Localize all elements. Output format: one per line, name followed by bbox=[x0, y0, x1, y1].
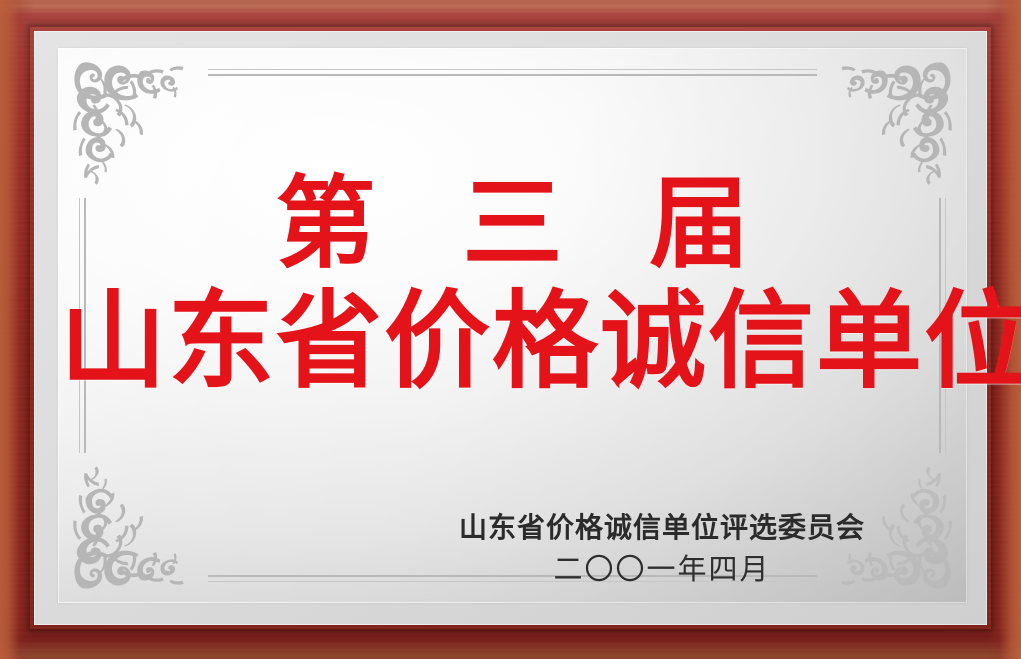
issue-date: 二〇〇一年四月 bbox=[452, 551, 872, 589]
signature-block: 山东省价格诚信单位评选委员会 二〇〇一年四月 bbox=[452, 510, 872, 589]
award-plaque: 第 三 届 山东省价格诚信单位 山东省价格诚信单位评选委员会 二〇〇一年四月 bbox=[0, 0, 1021, 659]
corner-flourish-ornament-top-left bbox=[68, 56, 200, 188]
award-title-line-2: 山东省价格诚信单位 bbox=[58, 284, 967, 398]
border-rule-top-thin bbox=[208, 69, 817, 70]
award-title-line-1: 第 三 届 bbox=[58, 170, 967, 276]
engraved-panel: 第 三 届 山东省价格诚信单位 山东省价格诚信单位评选委员会 二〇〇一年四月 bbox=[58, 48, 967, 603]
corner-flourish-ornament-top-right bbox=[825, 56, 957, 188]
silver-mat: 第 三 届 山东省价格诚信单位 山东省价格诚信单位评选委员会 二〇〇一年四月 bbox=[34, 31, 987, 625]
issuing-organization: 山东省价格诚信单位评选委员会 bbox=[452, 510, 872, 545]
corner-flourish-ornament-bottom-left bbox=[68, 463, 200, 595]
award-title: 第 三 届 山东省价格诚信单位 bbox=[58, 170, 967, 398]
border-rule-top-thick bbox=[208, 74, 817, 76]
